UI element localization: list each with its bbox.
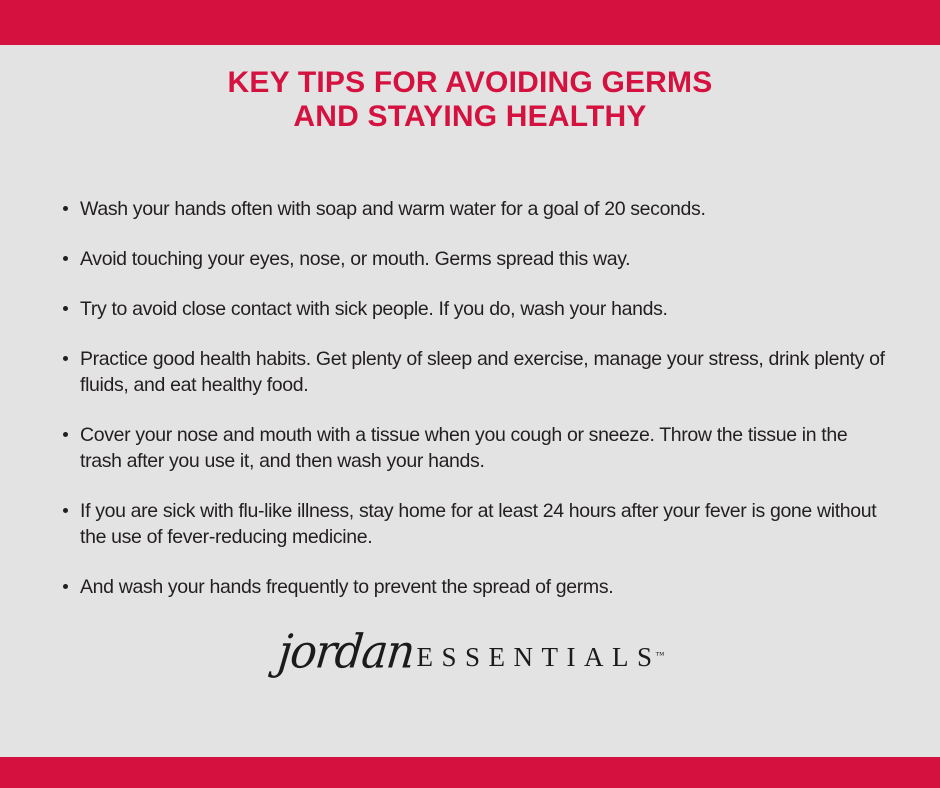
bullet-icon: [63, 306, 68, 311]
bottom-red-band: [0, 757, 940, 788]
page-title: KEY TIPS FOR AVOIDING GERMS AND STAYING …: [0, 66, 940, 134]
bullet-icon: [63, 584, 68, 589]
brand-logo-script-word: jordan: [276, 629, 416, 676]
list-item-text: Practice good health habits. Get plenty …: [80, 348, 885, 396]
poster-content: KEY TIPS FOR AVOIDING GERMS AND STAYING …: [0, 45, 940, 757]
brand-logo-block-word: ESSENTIALS: [417, 644, 661, 671]
list-item: Practice good health habits. Get plenty …: [63, 346, 892, 398]
list-item-text: Try to avoid close contact with sick peo…: [80, 298, 668, 320]
bullet-icon: [63, 432, 68, 437]
bullet-icon: [63, 508, 68, 513]
bullet-icon: [63, 206, 68, 211]
tips-list: Wash your hands often with soap and warm…: [63, 196, 892, 600]
trademark-icon: ™: [656, 651, 665, 660]
list-item-text: If you are sick with flu-like illness, s…: [80, 500, 876, 548]
brand-logo: jordan ESSENTIALS ™: [0, 630, 940, 674]
list-item-text: Cover your nose and mouth with a tissue …: [80, 424, 847, 472]
list-item: And wash your hands frequently to preven…: [63, 574, 892, 600]
list-item-text: Avoid touching your eyes, nose, or mouth…: [80, 248, 630, 270]
bullet-icon: [63, 356, 68, 361]
list-item: Cover your nose and mouth with a tissue …: [63, 422, 892, 474]
bullet-icon: [63, 256, 68, 261]
list-item: If you are sick with flu-like illness, s…: [63, 498, 892, 550]
poster: KEY TIPS FOR AVOIDING GERMS AND STAYING …: [0, 0, 940, 788]
page-title-line-1: KEY TIPS FOR AVOIDING GERMS: [0, 66, 940, 100]
list-item: Avoid touching your eyes, nose, or mouth…: [63, 246, 892, 272]
list-item-text: And wash your hands frequently to preven…: [80, 576, 613, 598]
list-item: Wash your hands often with soap and warm…: [63, 196, 892, 222]
list-item: Try to avoid close contact with sick peo…: [63, 296, 892, 322]
page-title-line-2: AND STAYING HEALTHY: [0, 100, 940, 134]
list-item-text: Wash your hands often with soap and warm…: [80, 198, 706, 220]
top-red-band: [0, 0, 940, 45]
